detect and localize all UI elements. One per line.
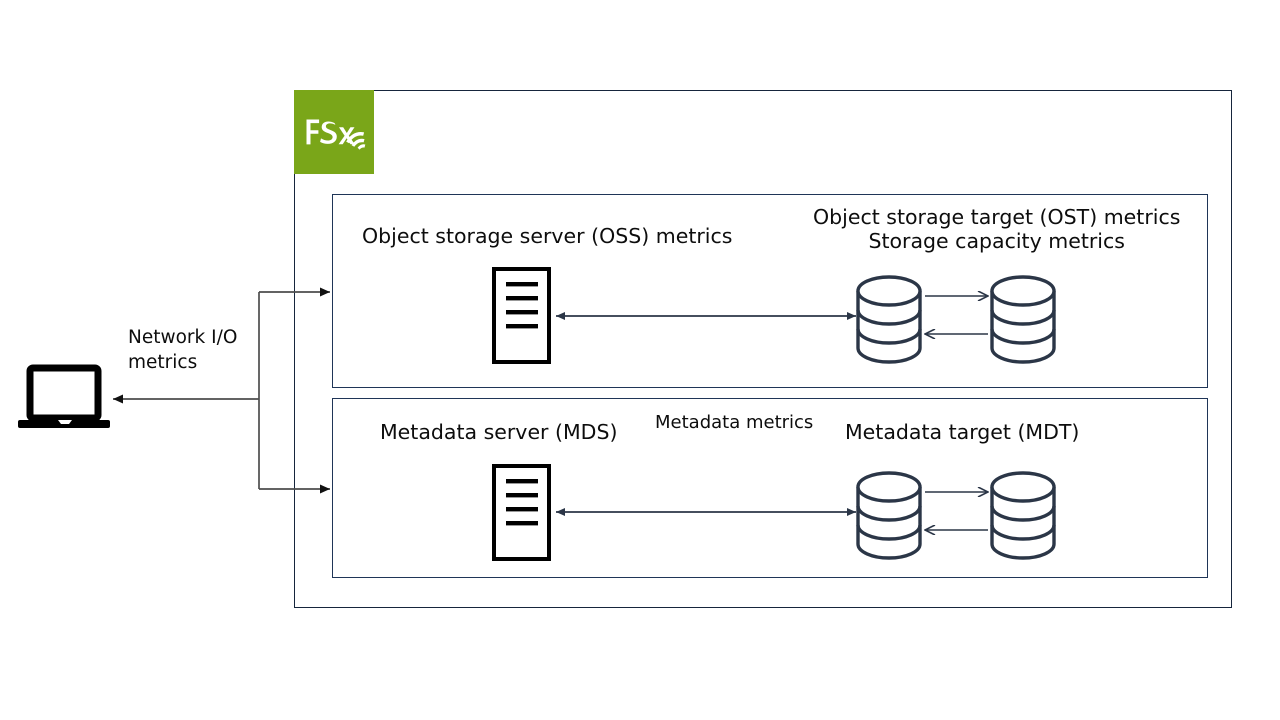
storage-capacity-metrics-line: Storage capacity metrics [813, 230, 1180, 254]
metadata-server-label: Metadata server (MDS) [380, 421, 617, 445]
laptop-icon [18, 368, 110, 428]
metadata-target-label: Metadata target (MDT) [845, 421, 1079, 445]
network-io-metrics-label: Network I/O metrics [128, 326, 258, 375]
object-storage-target-label: Object storage target (OST) metrics Stor… [813, 206, 1180, 254]
network-io-line2: metrics [128, 351, 258, 376]
diagram-canvas: Object storage server (OSS) metrics Obje… [0, 0, 1280, 720]
object-storage-server-label: Object storage server (OSS) metrics [362, 225, 732, 249]
network-io-line1: Network I/O [128, 326, 258, 351]
aws-fsx-logo [294, 90, 374, 174]
metadata-metrics-label: Metadata metrics [655, 413, 813, 434]
ost-metrics-line: Object storage target (OST) metrics [813, 206, 1180, 230]
